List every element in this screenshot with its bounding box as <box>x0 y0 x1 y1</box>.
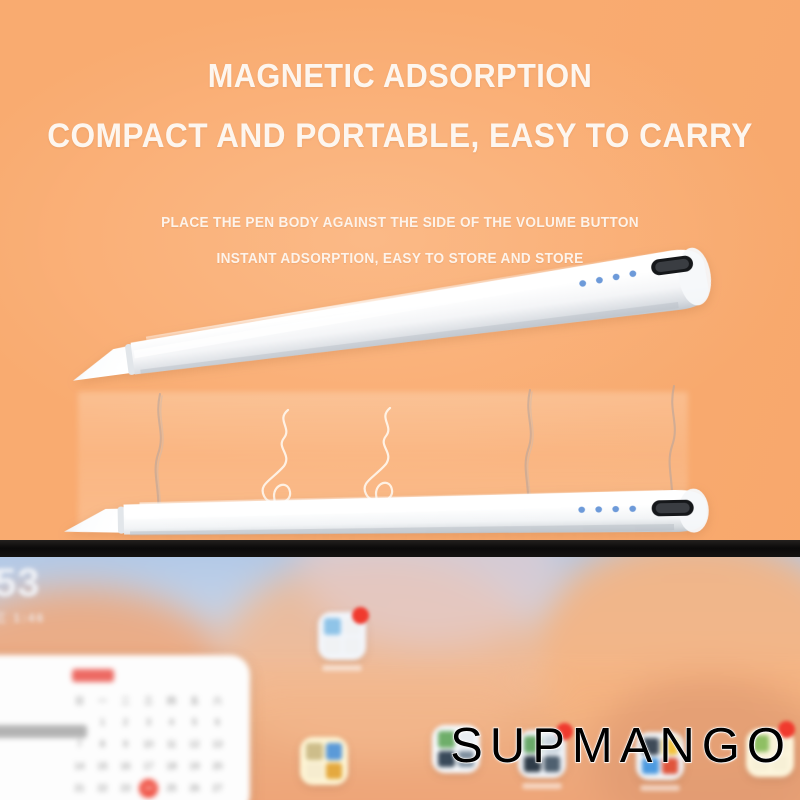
calendar-day-cell[interactable]: 26 <box>183 777 206 799</box>
calendar-weekday-header: 六 <box>206 689 229 711</box>
app-label <box>640 785 680 791</box>
clock-subtitle: 三 1:46 <box>0 609 45 626</box>
calendar-day-cell[interactable]: 21 <box>68 777 91 799</box>
calendar-day-cell[interactable]: 22 <box>91 777 114 799</box>
headline-secondary: COMPACT AND PORTABLE, EASY TO CARRY <box>28 117 772 156</box>
app-label <box>322 665 362 671</box>
headline-primary: MAGNETIC ADSORPTION <box>28 57 772 95</box>
usb-c-port-icon <box>652 500 694 517</box>
clock-time: 53 <box>0 563 45 603</box>
calendar-weekday-header: 三 <box>137 689 160 711</box>
product-banner: MAGNETIC ADSORPTION COMPACT AND PORTABLE… <box>0 0 800 800</box>
calendar-weekday-header: 二 <box>114 689 137 711</box>
folder-mini-grid <box>324 618 360 654</box>
pen-tip <box>70 346 131 380</box>
subline-instruction-1: PLACE THE PEN BODY AGAINST THE SIDE OF T… <box>24 215 776 231</box>
top-orange-panel: MAGNETIC ADSORPTION COMPACT AND PORTABLE… <box>0 0 800 542</box>
calendar-weekday-header: 五 <box>183 689 206 711</box>
calendar-day-cell[interactable]: 27 <box>206 777 229 799</box>
pen-tip <box>64 509 120 534</box>
calendar-day-cell[interactable]: 23 <box>114 777 137 799</box>
brand-watermark: SUPMANGO <box>0 722 800 771</box>
lower-stylus-pen <box>61 475 712 542</box>
calendar-weekday-header: 日 <box>68 689 91 711</box>
calendar-today-cell[interactable]: 24 <box>137 777 160 799</box>
tablet-bezel <box>0 540 800 558</box>
clock-widget: 53 三 1:46 <box>0 563 45 626</box>
calendar-weekday-header: 四 <box>160 689 183 711</box>
calendar-weekday-header: 一 <box>91 689 114 711</box>
notification-badge <box>352 607 369 624</box>
calendar-day-cell[interactable]: 25 <box>160 777 183 799</box>
app-label <box>522 783 562 789</box>
calendar-month-label <box>72 669 114 682</box>
